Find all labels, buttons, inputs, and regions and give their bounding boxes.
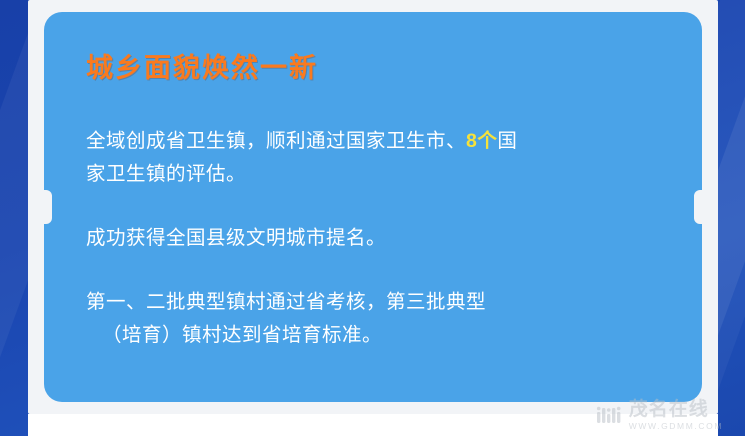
paragraph-3-line-1: 第一、二批典型镇村通过省考核，第三批典型 [86,291,486,313]
paragraph-2: 成功获得全国县级文明城市提名。 [86,222,662,255]
paragraph-1-line-2: 家卫生镇的评估。 [86,163,246,185]
paragraph-3-line-2: （培育）镇村达到省培育标准。 [86,324,382,346]
paragraph-1-line-1-tail: 国 [497,130,517,152]
paragraph-1-highlight: 8个 [466,130,497,152]
paragraph-2-line-1: 成功获得全国县级文明城市提名。 [86,227,386,249]
card-notch-right-icon [694,190,703,224]
poster-image: 城乡面貌焕然一新 全域创成省卫生镇，顺利通过国家卫生市、8个国 家卫生镇的评估。… [0,0,745,436]
page-title: 城乡面貌焕然一新 [86,46,662,85]
card-content: 城乡面貌焕然一新 全域创成省卫生镇，顺利通过国家卫生市、8个国 家卫生镇的评估。… [86,46,662,352]
paragraph-1: 全域创成省卫生镇，顺利通过国家卫生市、8个国 家卫生镇的评估。 [86,125,662,191]
content-card: 城乡面貌焕然一新 全域创成省卫生镇，顺利通过国家卫生市、8个国 家卫生镇的评估。… [44,12,702,402]
paragraph-1-line-1: 全域创成省卫生镇，顺利通过国家卫生市、 [86,130,466,152]
card-notch-left-icon [43,190,52,224]
page-backdrop-bottom [28,414,718,436]
paragraph-3: 第一、二批典型镇村通过省考核，第三批典型 （培育）镇村达到省培育标准。 [86,286,662,352]
